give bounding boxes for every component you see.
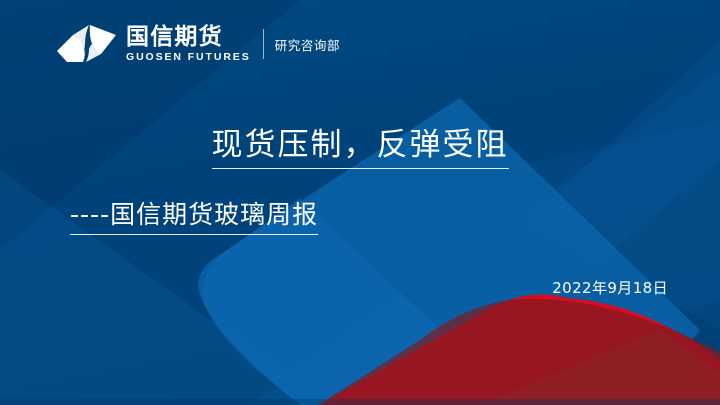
brand-department: 研究咨询部 <box>275 35 341 54</box>
brand-name-en: GUOSEN FUTURES <box>126 51 251 64</box>
bottom-strip <box>0 399 720 405</box>
diagonal-sheet-upper-right <box>330 40 720 405</box>
dark-red-overlay-wedge <box>480 330 720 405</box>
red-curve-bottom-right <box>320 298 720 405</box>
page-subtitle: ----国信期货玻璃周报 <box>70 198 318 235</box>
brand-wordmark: 国信期货 GUOSEN FUTURES <box>126 21 251 67</box>
brand-divider <box>263 29 264 59</box>
slide-date: 2022年9月18日 <box>552 278 668 298</box>
brand-name-cn: 国信期货 <box>126 25 251 50</box>
diagonal-band-right <box>250 70 720 405</box>
red-curve-crest <box>386 295 720 405</box>
dark-red-overlay-bottom <box>318 299 720 405</box>
brand-logo-lockup: 国信期货 GUOSEN FUTURES 研究咨询部 <box>56 18 340 70</box>
title-slide: 国信期货 GUOSEN FUTURES 研究咨询部 现货压制，反弹受阻 ----… <box>0 0 720 405</box>
slide-title-block: 现货压制，反弹受阻 <box>0 125 720 169</box>
page-title: 现货压制，反弹受阻 <box>212 125 509 169</box>
slide-subtitle-block: ----国信期货玻璃周报 <box>70 198 318 235</box>
guosen-folded-page-mark <box>56 21 118 67</box>
